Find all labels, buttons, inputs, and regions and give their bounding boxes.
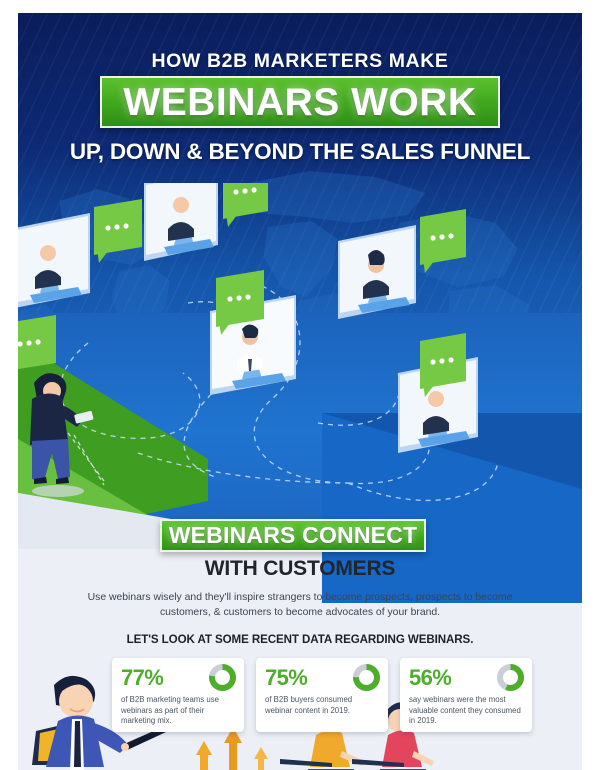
stat-percent: 75% — [265, 667, 307, 689]
chat-bubble-right-upper — [420, 209, 466, 273]
header-kicker: HOW B2B MARKETERS MAKE — [18, 50, 582, 73]
monitor-right-upper — [338, 225, 416, 319]
header-title-banner: WEBINARS WORK — [100, 76, 500, 128]
stat-percent: 77% — [121, 667, 163, 689]
stat-description: of B2B marketing teams use webinars as p… — [121, 695, 236, 727]
stat-card-top: 77% — [121, 664, 236, 691]
chat-bubble-top-center — [223, 183, 268, 227]
chat-bubble-far-left — [18, 315, 56, 379]
stat-percent: 56% — [409, 667, 451, 689]
monitor-top-center — [144, 183, 218, 261]
connect-subheading: WITH CUSTOMERS — [18, 557, 582, 581]
chat-bubble-left — [94, 199, 142, 263]
connect-body-text: Use webinars wisely and they'll inspire … — [78, 591, 522, 620]
stat-card: 75% of B2B buyers consumed webinar conte… — [256, 658, 388, 732]
donut-chart-icon — [353, 664, 380, 691]
stat-card: 56% say webinars were the most valuable … — [400, 658, 532, 732]
stat-card-top: 75% — [265, 664, 380, 691]
connect-banner: WEBINARS CONNECT — [160, 519, 426, 552]
webinar-network-illustration — [18, 183, 582, 523]
stat-card: 77% of B2B marketing teams use webinars … — [112, 658, 244, 732]
connect-banner-text: WEBINARS CONNECT — [169, 522, 418, 549]
donut-chart-icon — [209, 664, 236, 691]
callout-text: LET'S LOOK AT SOME RECENT DATA REGARDING… — [18, 633, 582, 646]
stat-cards-row: 77% of B2B marketing teams use webinars … — [112, 658, 532, 734]
monitor-left — [18, 213, 90, 309]
header-subtitle: UP, DOWN & BEYOND THE SALES FUNNEL — [18, 139, 582, 165]
stat-card-top: 56% — [409, 664, 524, 691]
donut-chart-icon — [497, 664, 524, 691]
stat-description: of B2B buyers consumed webinar content i… — [265, 695, 380, 716]
infographic-poster: HOW B2B MARKETERS MAKE WEBINARS WORK UP,… — [18, 13, 582, 770]
stat-description: say webinars were the most valuable cont… — [409, 695, 524, 727]
presenter-with-tablet-figure — [30, 373, 104, 497]
header-title-text: WEBINARS WORK — [123, 83, 476, 122]
